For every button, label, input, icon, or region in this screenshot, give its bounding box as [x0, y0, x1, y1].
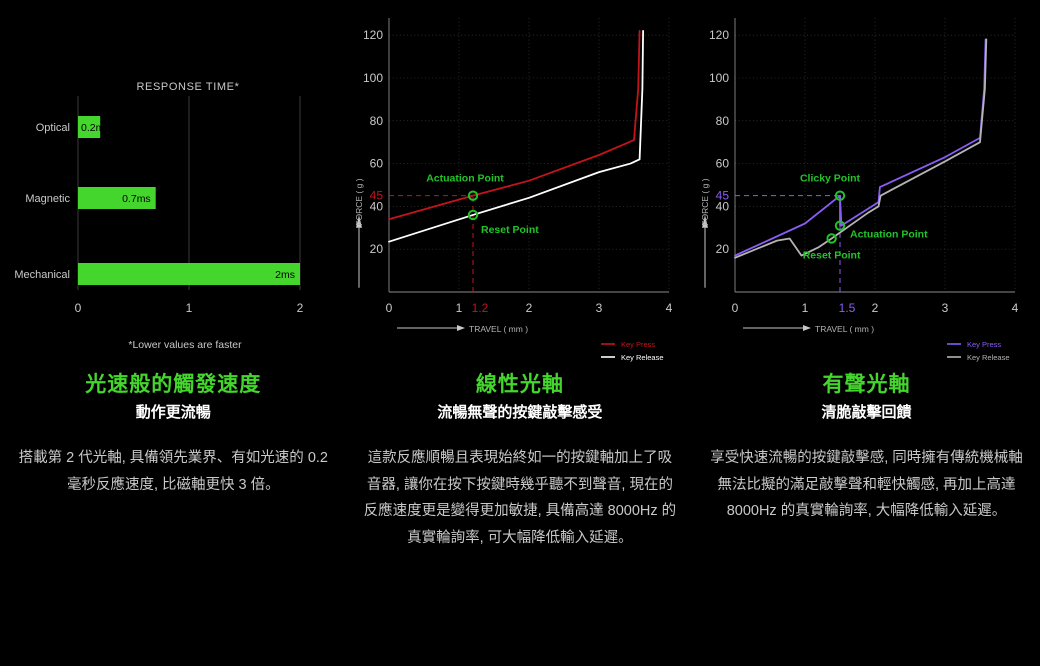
subheadline: 清脆敲擊回饋: [707, 403, 1026, 423]
x-tick-label: 0: [732, 301, 739, 315]
body-copy: 搭載第 2 代光軸, 具備領先業界、有如光速的 0.2 毫秒反應速度, 比磁軸更…: [14, 445, 333, 499]
annotation-label: Reset Point: [481, 224, 539, 236]
linear-force-chart: 2040608010012045012341.2TRAVEL ( mm )FOR…: [347, 0, 694, 372]
page-root: RESPONSE TIME*Optical0.2msMagnetic0.7msM…: [0, 0, 1040, 666]
series-line: [389, 31, 640, 219]
annotation-label: Reset Point: [803, 249, 861, 261]
y-tick-label: 100: [363, 71, 383, 85]
y-tick-label-highlight: 45: [716, 189, 730, 203]
y-axis-label: FORCE ( g ): [700, 178, 710, 225]
copy-linear-optical: 線性光軸 流暢無聲的按鍵敲擊感受 這款反應順暢且表現始終如一的按鍵軸加上了吸音器…: [347, 372, 694, 552]
y-tick-label: 120: [709, 28, 729, 42]
y-tick-label: 20: [716, 242, 730, 256]
series-line: [389, 31, 643, 242]
y-tick-label: 80: [369, 114, 383, 128]
x-tick-label: 2: [872, 301, 879, 315]
bar-value-label: 0.7ms: [122, 193, 151, 205]
x-tick-label: 3: [595, 301, 602, 315]
headline: 有聲光軸: [707, 372, 1026, 398]
legend-label: Key Press: [621, 340, 655, 349]
chart-title: RESPONSE TIME*: [137, 81, 240, 93]
subheadline: 流暢無聲的按鍵敲擊感受: [361, 403, 680, 423]
three-column-layout: RESPONSE TIME*Optical0.2msMagnetic0.7msM…: [0, 0, 1040, 552]
copy-clicky-optical: 有聲光軸 清脆敲擊回饋 享受快速流暢的按鍵敲擊感, 同時擁有傳統機械軸無法比擬的…: [693, 372, 1040, 525]
chart-footnote: *Lower values are faster: [128, 339, 242, 351]
copy-response-time: 光速般的觸發速度 動作更流暢 搭載第 2 代光軸, 具備領先業界、有如光速的 0…: [0, 372, 347, 498]
x-tick-label: 0: [385, 301, 392, 315]
legend-label: Key Press: [967, 340, 1001, 349]
x-tick-label: 0: [75, 301, 82, 315]
series-line: [735, 39, 986, 257]
response-time-chart: RESPONSE TIME*Optical0.2msMagnetic0.7msM…: [0, 0, 347, 372]
x-tick-label: 1: [186, 301, 193, 315]
x-tick-label-highlight: 1.2: [471, 301, 488, 315]
x-axis-label: TRAVEL ( mm ): [469, 324, 528, 334]
headline: 光速般的觸發速度: [14, 372, 333, 398]
body-copy: 享受快速流暢的按鍵敲擊感, 同時擁有傳統機械軸無法比擬的滿足敲擊聲和輕快觸感, …: [707, 445, 1026, 525]
response-time-svg: RESPONSE TIME*Optical0.2msMagnetic0.7msM…: [0, 0, 346, 372]
clicky-force-chart: 2040608010012045012341.5TRAVEL ( mm )FOR…: [693, 0, 1040, 372]
x-tick-label-highlight: 1.5: [839, 301, 856, 315]
clicky-force-svg: 2040608010012045012341.5TRAVEL ( mm )FOR…: [693, 0, 1039, 372]
bar: [78, 263, 300, 285]
y-tick-label: 20: [369, 242, 383, 256]
body-copy: 這款反應順暢且表現始終如一的按鍵軸加上了吸音器, 讓你在按下按鍵時幾乎聽不到聲音…: [361, 445, 680, 552]
x-tick-label: 4: [665, 301, 672, 315]
y-tick-label-highlight: 45: [369, 189, 383, 203]
y-tick-label: 80: [716, 114, 730, 128]
bar-value-label: 2ms: [275, 269, 295, 281]
bar-category-label: Mechanical: [14, 269, 70, 281]
y-tick-label: 60: [716, 157, 730, 171]
bar-category-label: Magnetic: [25, 193, 70, 205]
bar-value-label: 0.2ms: [81, 122, 110, 134]
x-axis-arrowhead: [457, 325, 465, 331]
x-tick-label: 2: [525, 301, 532, 315]
annotation-label: Clicky Point: [800, 173, 861, 185]
x-tick-label: 4: [1012, 301, 1019, 315]
column-linear-optical: 2040608010012045012341.2TRAVEL ( mm )FOR…: [347, 0, 694, 552]
series-line: [735, 39, 986, 255]
x-tick-label: 3: [942, 301, 949, 315]
x-axis-label: TRAVEL ( mm ): [815, 324, 874, 334]
bar-category-label: Optical: [36, 122, 70, 134]
linear-force-svg: 2040608010012045012341.2TRAVEL ( mm )FOR…: [347, 0, 693, 372]
legend-label: Key Release: [967, 353, 1010, 362]
column-clicky-optical: 2040608010012045012341.5TRAVEL ( mm )FOR…: [693, 0, 1040, 552]
y-tick-label: 60: [369, 157, 383, 171]
column-response-time: RESPONSE TIME*Optical0.2msMagnetic0.7msM…: [0, 0, 347, 552]
x-tick-label: 1: [455, 301, 462, 315]
headline: 線性光軸: [361, 372, 680, 398]
x-axis-arrowhead: [803, 325, 811, 331]
x-tick-label: 2: [297, 301, 304, 315]
y-axis-label: FORCE ( g ): [354, 178, 364, 225]
legend-label: Key Release: [621, 353, 664, 362]
y-tick-label: 120: [363, 28, 383, 42]
y-tick-label: 100: [709, 71, 729, 85]
annotation-label: Actuation Point: [850, 229, 928, 241]
x-tick-label: 1: [802, 301, 809, 315]
subheadline: 動作更流暢: [14, 403, 333, 423]
annotation-label: Actuation Point: [426, 173, 504, 185]
